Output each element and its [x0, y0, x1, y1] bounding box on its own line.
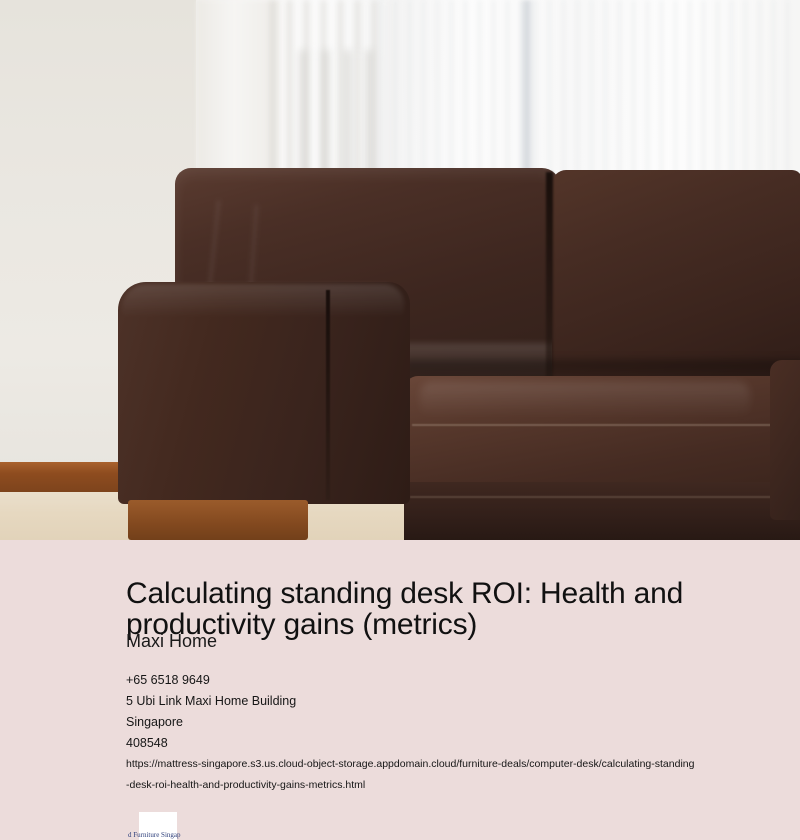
sofa-base-front [404, 482, 800, 540]
hero-image [0, 0, 800, 540]
page-url[interactable]: https://mattress-singapore.s3.us.cloud-o… [126, 754, 696, 796]
arm-highlight [122, 284, 404, 318]
brand-name: Maxi Home [126, 631, 217, 652]
sofa-arm-right [770, 360, 800, 520]
contact-country: Singapore [126, 712, 716, 733]
contact-details: +65 6518 9649 5 Ubi Link Maxi Home Build… [126, 670, 716, 796]
arm-seam [326, 290, 330, 500]
base-stitching [410, 496, 790, 498]
backrest-seam [546, 172, 553, 392]
seat-highlight [420, 382, 750, 418]
contact-street: 5 Ubi Link Maxi Home Building [126, 691, 716, 712]
page-root: Calculating standing desk ROI: Health an… [0, 0, 800, 840]
sofa-wooden-foot [128, 500, 308, 540]
contact-postal-code: 408548 [126, 733, 716, 754]
content-panel: Calculating standing desk ROI: Health an… [0, 540, 800, 840]
contact-phone[interactable]: +65 6518 9649 [126, 670, 716, 691]
seat-stitching [412, 424, 798, 426]
logo-caption: d Furniture Singap [128, 831, 188, 839]
